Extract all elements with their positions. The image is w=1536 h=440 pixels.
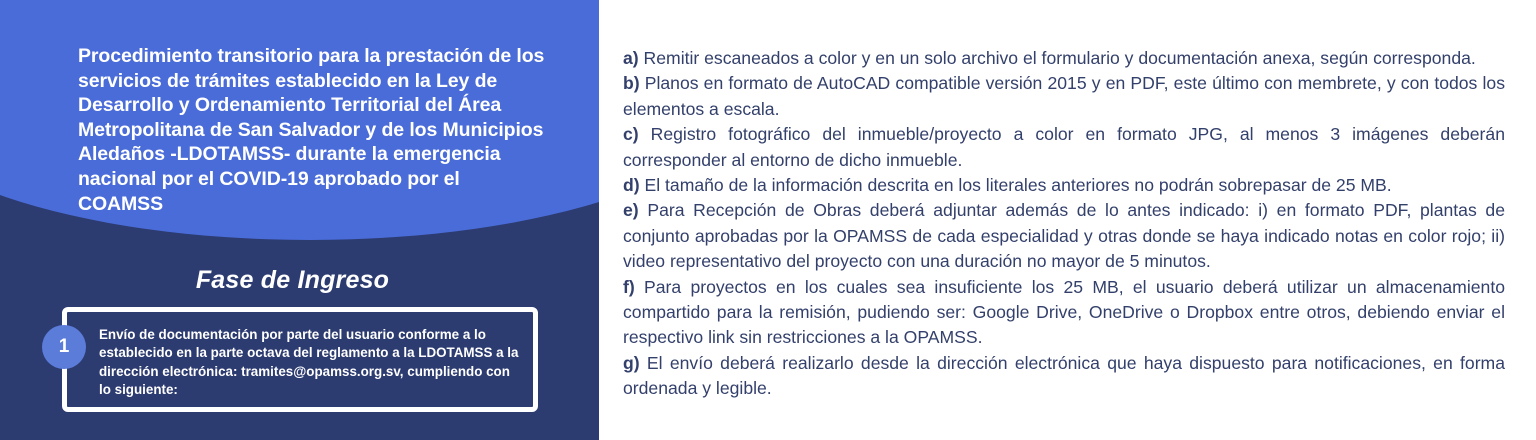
left-panel: Procedimiento transitorio para la presta… [0, 0, 599, 440]
requirement-item: a) Remitir escaneados a color y en un so… [623, 46, 1505, 71]
requirements-list: a) Remitir escaneados a color y en un so… [623, 46, 1505, 402]
requirement-item: f) Para proyectos en los cuales sea insu… [623, 275, 1505, 351]
step-number-badge: 1 [42, 325, 86, 369]
requirement-letter: f) [623, 277, 635, 297]
requirement-text: Planos en formato de AutoCAD compatible … [623, 73, 1505, 118]
requirement-item: c) Registro fotográfico del inmueble/pro… [623, 122, 1505, 173]
requirement-item: d) El tamaño de la información descrita … [623, 173, 1505, 198]
requirement-text: El tamaño de la información descrita en … [640, 175, 1392, 195]
requirement-item: g) El envío deberá realizarlo desde la d… [623, 351, 1505, 402]
infographic-page: Procedimiento transitorio para la presta… [0, 0, 1536, 440]
requirement-text: Remitir escaneados a color y en un solo … [639, 48, 1476, 68]
requirement-item: e) Para Recepción de Obras deberá adjunt… [623, 198, 1505, 274]
requirement-text: Registro fotográfico del inmueble/proyec… [623, 124, 1505, 169]
requirement-letter: a) [623, 48, 639, 68]
requirement-text: Para proyectos en los cuales sea insufic… [623, 277, 1505, 348]
requirement-item: b) Planos en formato de AutoCAD compatib… [623, 71, 1505, 122]
phase-title: Fase de Ingreso [0, 266, 585, 295]
requirement-letter: c) [623, 124, 639, 144]
requirement-letter: b) [623, 73, 640, 93]
requirement-letter: g) [623, 353, 640, 373]
requirement-letter: e) [623, 200, 639, 220]
right-panel: a) Remitir escaneados a color y en un so… [599, 0, 1536, 440]
requirement-text: El envío deberá realizarlo desde la dire… [623, 353, 1505, 398]
step-card: Envío de documentación por parte del usu… [62, 307, 538, 412]
requirement-letter: d) [623, 175, 640, 195]
step-description: Envío de documentación por parte del usu… [99, 326, 519, 400]
requirement-text: Para Recepción de Obras deberá adjuntar … [623, 200, 1505, 271]
page-title: Procedimiento transitorio para la presta… [78, 44, 548, 216]
